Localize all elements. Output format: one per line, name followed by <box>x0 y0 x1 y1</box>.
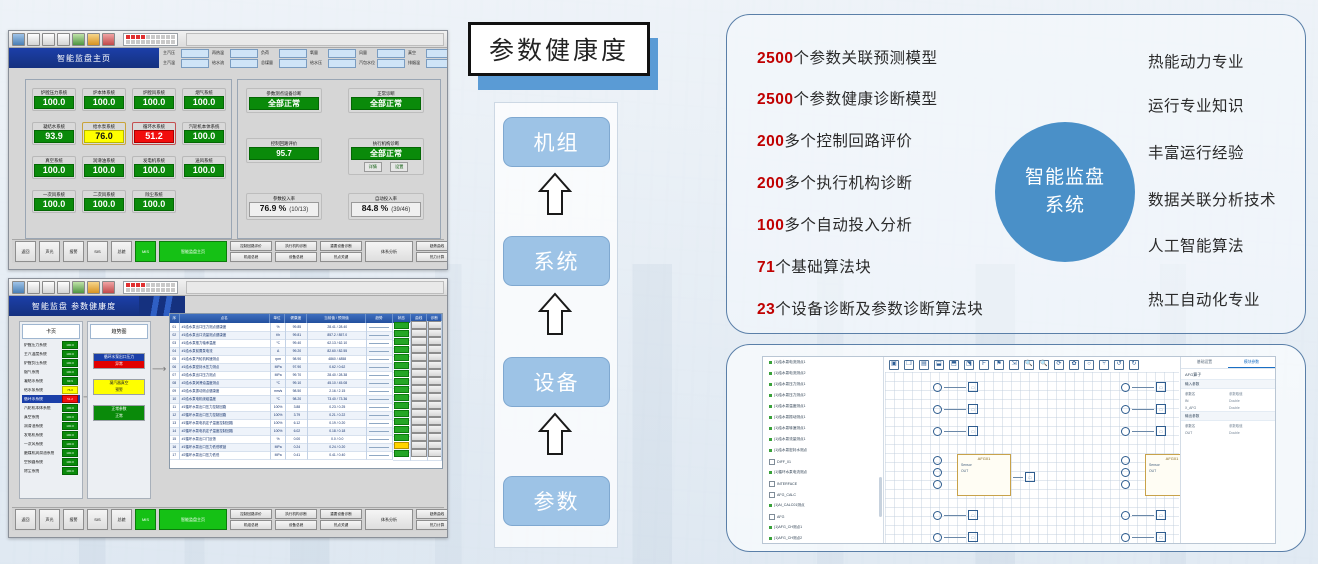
scada-home-toolbar[interactable] <box>9 31 447 48</box>
status-card[interactable]: 自动投入率 84.8 %(39/46) <box>348 193 424 220</box>
nav-button-alarm[interactable]: 报警 <box>63 241 84 262</box>
health-tile[interactable]: 炉本体系统100.0 <box>82 88 126 111</box>
nav-item[interactable]: 炉膛压力系统100.0 <box>22 341 80 349</box>
nav-item[interactable]: 润滑油系统100.0 <box>22 422 80 430</box>
nav-item[interactable]: 一次风系统100.0 <box>22 440 80 448</box>
folder-icon <box>769 459 775 465</box>
select-icon[interactable]: ▣ <box>889 360 899 370</box>
health-data-table[interactable]: 序 点名 单位 健康度 当前值 / 预测值 趋势 状态 曲线 诊断 01#1给水… <box>169 313 443 469</box>
note-icon[interactable] <box>102 33 115 46</box>
tree-node[interactable]: (1)给水泵振动测点1 <box>763 412 883 423</box>
undo-icon[interactable]: ↺ <box>1114 360 1124 370</box>
tree-node-label: (1)给水泵电流测点2 <box>774 371 806 376</box>
health-tile[interactable]: 除尘系统100.0 <box>132 190 176 213</box>
nav-button-home[interactable]: 智能监盘主页 <box>159 241 227 262</box>
page-title: 参数健康度 <box>489 31 629 67</box>
pin-row[interactable] <box>1121 468 1130 477</box>
tree-node[interactable]: (1)AI_CALC01测点 <box>763 500 883 511</box>
nav-button-sis[interactable]: SIS <box>87 509 108 530</box>
nav-button-system-analysis[interactable]: 体系分析 <box>365 509 413 530</box>
nav-button-key-device-diag[interactable]: 重要设备诊断 <box>320 241 362 251</box>
scada-health-toolbar[interactable] <box>9 279 447 296</box>
nav-item[interactable]: 凝结水系统93.9 <box>22 377 80 385</box>
pin-row[interactable] <box>933 456 942 465</box>
logic-toolbar[interactable]: ▣❐▤⬓⬒⬔F⚑⇲🔍🔍⟳✿○⑂↺↻ <box>885 357 1179 373</box>
row-trend-button[interactable] <box>411 449 427 461</box>
paste-icon[interactable]: ▤ <box>919 360 929 370</box>
trend-group-panel[interactable]: 趋势图 循环水泵出口压力 异常 凝汽器真空 预警 正常参数 正常 <box>87 321 151 499</box>
tree-node[interactable]: (1)给水泵压力测点2 <box>763 390 883 401</box>
property-group-output: 输出参数 <box>1181 411 1275 421</box>
tree-node[interactable]: (1)给水泵电流测点1 <box>763 357 883 368</box>
nav-item[interactable]: 烟气系统100.0 <box>22 368 80 376</box>
hierarchy-node-system[interactable]: 系统 <box>503 236 610 286</box>
health-tile[interactable]: 凝结水系统93.9 <box>32 122 76 145</box>
function-block[interactable]: AFG01 Sensor OUT <box>957 454 1011 496</box>
scada-home-param-strip: 主汽压主汽温 再热温给水流 负荷总煤量 氧量给水压 风量汽包水位 真空排烟温 <box>159 48 448 68</box>
up-arrow-icon <box>538 172 572 216</box>
stat-line: 2500个参数健康诊断模型 <box>757 87 938 109</box>
properties-panel[interactable]: 基础设置 模块参数 AFG算子 输入参数 参数名 参数取值 IN Double … <box>1180 357 1275 543</box>
tree-node-label: (1)AFG_CH测点2 <box>774 536 802 541</box>
nav-item[interactable]: 真空系统100.0 <box>22 413 80 421</box>
tools-icon[interactable] <box>87 281 100 294</box>
tree-node[interactable]: (1)给水泵温度测点1 <box>763 401 883 412</box>
system-circle-label: 智能监盘系统 <box>1020 164 1110 220</box>
alarm-led-panel <box>123 281 178 294</box>
zoom-out-icon[interactable]: 🔍 <box>1039 360 1049 370</box>
hierarchy-node-unit[interactable]: 机组 <box>503 117 610 167</box>
tree-node[interactable]: (1)循环水泵电流测点 <box>763 467 883 478</box>
health-tile[interactable]: 给水泵系统76.0 <box>82 122 126 145</box>
system-circle-badge: 智能监盘系统 <box>995 122 1135 262</box>
nav-button-return[interactable]: 返回 <box>15 509 36 530</box>
health-tile[interactable]: 烟气系统100.0 <box>182 88 226 111</box>
scada-health-title: 智能监盘 参数健康度 <box>9 296 139 316</box>
nav-item[interactable]: 磨煤机润滑油系统100.0 <box>22 449 80 457</box>
leaf-icon <box>769 405 772 408</box>
tree-node[interactable]: AFG_CALC <box>763 489 883 500</box>
copy-icon[interactable] <box>42 281 55 294</box>
status-card[interactable]: 控制回路评价 95.7 <box>246 138 322 163</box>
nav-button-device-overview[interactable]: 设备总貌 <box>275 252 317 262</box>
pin-row[interactable]: □ <box>933 426 978 436</box>
tree-node[interactable]: (1)给水泵密封水测点 <box>763 445 883 456</box>
nav-item[interactable]: 汽轮机本体系统100.0 <box>22 404 80 412</box>
stat-line: 200多个控制回路评价 <box>757 129 912 151</box>
save-icon[interactable] <box>12 33 25 46</box>
health-tile[interactable]: 送风系统100.0 <box>182 156 226 179</box>
stat-line: 23个设备诊断及参数诊断算法块 <box>757 297 983 319</box>
property-row[interactable]: IN Double <box>1181 397 1275 404</box>
scada-health-button-bar[interactable]: 返回 声光 报警 SIS 总貌 MIS 智能监盘主页 控制回路评价 机组总貌 执… <box>12 507 444 531</box>
up-arrow-icon <box>538 292 572 336</box>
health-tile[interactable]: 一次风系统100.0 <box>32 190 76 213</box>
property-row[interactable]: X_AFG Double <box>1181 404 1275 411</box>
scada-health-window[interactable]: 智能监盘 参数健康度 卡页 炉膛压力系统100.0 主汽温度系统100.0 炉膛… <box>8 278 448 538</box>
tree-node-label: (1)给水泵转速测点1 <box>774 426 806 431</box>
tree-node[interactable]: (1)给水泵电流测点2 <box>763 368 883 379</box>
nav-button-overview[interactable]: 总貌 <box>111 241 132 262</box>
pin-row[interactable]: □ <box>1121 382 1166 392</box>
flow-arrow-icon-2: ⟶ <box>152 365 166 375</box>
scada-home-window[interactable]: 智能监盘主页 主汽压主汽温 再热温给水流 负荷总煤量 氧量给水压 风量汽包水位 … <box>8 30 448 270</box>
toolbar-filler <box>186 33 444 46</box>
properties-title: AFG算子 <box>1181 369 1275 379</box>
profession-label: 人工智能算法 <box>1148 234 1244 256</box>
property-group-input: 输入参数 <box>1181 379 1275 389</box>
nav-button-sis[interactable]: SIS <box>87 241 108 262</box>
status-card[interactable]: 正常诊断 全部正常 <box>348 88 424 113</box>
tree-node-label: (1)给水泵流量测点1 <box>774 437 806 442</box>
nav-button-thermal-calc[interactable]: 热力计算 <box>416 252 448 262</box>
align-down-icon[interactable]: ⬒ <box>949 360 959 370</box>
health-tile[interactable]: 润滑油系统100.0 <box>82 156 126 179</box>
nav-button-hotspot[interactable]: 热点关键 <box>320 520 362 530</box>
nav-button-trend[interactable]: 趋势曲线 <box>416 241 448 251</box>
pin-row[interactable]: □ <box>933 532 978 542</box>
save-icon[interactable] <box>12 281 25 294</box>
nav-button-device-overview[interactable]: 设备总貌 <box>275 520 317 530</box>
stat-line: 2500个参数关联预测模型 <box>757 46 938 68</box>
tree-node[interactable]: (1)给水泵转速测点1 <box>763 423 883 434</box>
profession-label: 热能动力专业 <box>1148 50 1244 72</box>
profession-label: 热工自动化专业 <box>1148 288 1260 310</box>
tab-basic[interactable]: 基础设置 <box>1181 357 1228 368</box>
nav-button-mis[interactable]: MIS <box>135 241 156 262</box>
system-nav-list[interactable]: 卡页 炉膛压力系统100.0 主汽温度系统100.0 炉膛负压系统100.0 烟… <box>19 321 83 499</box>
leaf-icon <box>769 526 772 529</box>
tree-node-label: INTERFACE <box>777 482 797 486</box>
nav-button-sound[interactable]: 声光 <box>39 241 60 262</box>
profession-label: 运行专业知识 <box>1148 94 1244 116</box>
tree-node-label: (1)循环水泵电流测点 <box>774 470 807 475</box>
tree-node[interactable]: DIFF_01 <box>763 456 883 467</box>
leaf-icon <box>769 361 772 364</box>
hierarchy-node-parameter[interactable]: 参数 <box>503 476 610 526</box>
refresh-icon[interactable]: ⟳ <box>1054 360 1064 370</box>
tree-node-label: (1)给水泵压力测点1 <box>774 382 806 387</box>
scada-home-button-bar[interactable]: 返回 声光 报警 SIS 总貌 MIS 智能监盘主页 控制回路评价 机组总貌 执… <box>12 239 444 263</box>
stat-line: 100多个自动投入分析 <box>757 213 912 235</box>
chart-icon[interactable] <box>72 281 85 294</box>
tools-icon[interactable] <box>87 33 100 46</box>
leaf-icon <box>769 427 772 430</box>
tree-node-label: (1)给水泵温度测点1 <box>774 404 806 409</box>
alarm-led-panel <box>123 33 178 46</box>
property-row[interactable]: OUT Double <box>1181 429 1275 436</box>
settings-button[interactable]: 设置 <box>390 162 408 172</box>
pin-row[interactable] <box>1121 480 1130 489</box>
leaf-icon <box>769 537 772 540</box>
stat-line: 200多个执行机构诊断 <box>757 171 912 193</box>
toolbar-filler <box>186 281 444 294</box>
print-icon[interactable] <box>27 33 40 46</box>
diagnosis-summary-panel: 参数测点设备诊断 全部正常 正常诊断 全部正常 控制回路评价 95.7 执行机构… <box>237 79 441 239</box>
pin-row[interactable]: □ <box>933 510 978 520</box>
mid-header: 趋势图 <box>90 324 148 339</box>
leaf-icon <box>769 416 772 419</box>
health-tile[interactable]: 真空系统100.0 <box>32 156 76 179</box>
leaf-icon <box>769 449 772 452</box>
leaf-icon <box>769 372 772 375</box>
nav-item[interactable]: 除尘系统100.0 <box>22 467 80 475</box>
health-tile[interactable]: 炉膛压力系统100.0 <box>32 88 76 111</box>
zoom-in-icon[interactable]: 🔍 <box>1024 360 1034 370</box>
pin-row[interactable] <box>933 480 942 489</box>
property-header-row: 参数名 参数取值 <box>1181 421 1275 429</box>
canvas-scrollbar[interactable] <box>879 477 882 517</box>
pin-row[interactable] <box>933 468 942 477</box>
tree-node[interactable]: INTERFACE <box>763 478 883 489</box>
nav-button-trend[interactable]: 趋势曲线 <box>416 509 448 519</box>
pin-row[interactable]: □ <box>1121 426 1166 436</box>
leaf-icon <box>769 504 772 507</box>
nav-button-hotspot[interactable]: 热点关键 <box>320 252 362 262</box>
branch-icon[interactable]: ⑂ <box>1099 360 1109 370</box>
chart-icon[interactable] <box>72 33 85 46</box>
tree-node-label: (1)给水泵密封水测点 <box>774 448 807 453</box>
copy-icon[interactable]: ❐ <box>904 360 914 370</box>
logic-tree-panel[interactable]: (1)给水泵电流测点1(1)给水泵电流测点2(1)给水泵压力测点1(1)给水泵压… <box>763 357 884 543</box>
nav-button-home[interactable]: 智能监盘主页 <box>159 509 227 530</box>
tree-node[interactable]: (1)给水泵压力测点1 <box>763 379 883 390</box>
tree-node-label: AFG_CALC <box>777 493 796 497</box>
up-arrow-icon <box>538 412 572 456</box>
scada-home-title: 智能监盘主页 <box>9 48 159 68</box>
tree-node-label: AFG <box>777 515 784 519</box>
pin-row[interactable] <box>1121 456 1130 465</box>
detail-button[interactable]: 详情 <box>364 162 382 172</box>
health-tile[interactable]: 发电机系统100.0 <box>132 156 176 179</box>
pin-row[interactable]: □ <box>1013 472 1035 482</box>
health-tile[interactable]: 二次风系统100.0 <box>82 190 126 213</box>
leaf-icon <box>769 383 772 386</box>
tree-node[interactable]: (1)给水泵流量测点1 <box>763 434 883 445</box>
leaf-icon <box>769 438 772 441</box>
folder-icon <box>769 481 775 487</box>
pin-row[interactable]: □ <box>1121 532 1166 542</box>
group-block-abnormal[interactable]: 循环水泵出口压力 异常 <box>93 353 145 369</box>
nav-button-sound[interactable]: 声光 <box>39 509 60 530</box>
health-tile[interactable]: 汽轮机本体系统100.0 <box>182 122 226 145</box>
nav-button-system-analysis[interactable]: 体系分析 <box>365 241 413 262</box>
property-header-row: 参数名 参数取值 <box>1181 389 1275 397</box>
tree-node-label: (1)AI_CALC01测点 <box>774 503 805 508</box>
nav-item[interactable]: 给水泵系统76.0 <box>22 386 80 394</box>
health-tile[interactable]: 循环水系统51.2 <box>132 122 176 145</box>
tree-node-label: DIFF_01 <box>777 460 791 464</box>
pin-row[interactable]: □ <box>1121 510 1166 520</box>
nav-button-key-device-diag[interactable]: 重要设备诊断 <box>320 509 362 519</box>
logic-editor-window[interactable]: (1)给水泵电流测点1(1)给水泵电流测点2(1)给水泵压力测点1(1)给水泵压… <box>762 356 1276 544</box>
nav-button-actuator-diag[interactable]: 执行机构诊断 <box>275 509 317 519</box>
status-card[interactable]: 参数投入率 76.9 %(10/13) <box>246 193 322 220</box>
link-icon[interactable]: ⇲ <box>1009 360 1019 370</box>
nav-item[interactable]: 主汽温度系统100.0 <box>22 350 80 358</box>
row-diagnose-button[interactable] <box>428 449 442 461</box>
nav-header: 卡页 <box>22 324 80 339</box>
copy-icon[interactable] <box>42 33 55 46</box>
tree-node[interactable]: (1)AFG_CH测点1 <box>763 522 883 533</box>
properties-tabs[interactable]: 基础设置 模块参数 <box>1181 357 1275 369</box>
nav-button-loop-eval[interactable]: 控制回路评价 <box>230 241 272 251</box>
leaf-icon <box>769 471 772 474</box>
nav-item[interactable]: 炉膛负压系统100.0 <box>22 359 80 367</box>
paste-icon[interactable] <box>57 33 70 46</box>
nav-item[interactable]: 发电机系统100.0 <box>22 431 80 439</box>
nav-button-overview[interactable]: 总貌 <box>111 509 132 530</box>
tree-node-label: (1)给水泵电流测点1 <box>774 360 806 365</box>
table-body[interactable]: 01#1给水泵出口压力测点健康度%99.8528.41 / 28.4002#1给… <box>170 323 442 459</box>
folder-icon <box>769 514 775 520</box>
nav-button-mis[interactable]: MIS <box>135 509 156 530</box>
nav-button-return[interactable]: 返回 <box>15 241 36 262</box>
pin-row[interactable]: □ <box>933 404 978 414</box>
health-tile[interactable]: 炉膛风系统100.0 <box>132 88 176 111</box>
text-icon[interactable]: F <box>979 360 989 370</box>
stat-line: 71个基础算法块 <box>757 255 871 277</box>
hierarchy-node-equipment[interactable]: 设备 <box>503 357 610 407</box>
logic-canvas[interactable]: □ □ □ AFG01 Sensor OUT □ □ □ □ AFG02 Sen… <box>885 372 1179 543</box>
print-icon[interactable] <box>27 281 40 294</box>
tree-node-label: (1)给水泵振动测点1 <box>774 415 806 420</box>
nav-button-unit-overview[interactable]: 机组总貌 <box>230 520 272 530</box>
status-card[interactable]: 参数测点设备诊断 全部正常 <box>246 88 322 113</box>
tree-node-label: (1)AFG_CH测点1 <box>774 525 802 530</box>
profession-label: 丰富运行经验 <box>1148 141 1244 163</box>
align-right-icon[interactable]: ⬔ <box>964 360 974 370</box>
pin-row[interactable]: □ <box>933 382 978 392</box>
tab-module-params[interactable]: 模块参数 <box>1228 357 1275 368</box>
nav-button-actuator-diag[interactable]: 执行机构诊断 <box>275 241 317 251</box>
system-health-panel: 炉膛压力系统100.0 炉本体系统100.0 炉膛风系统100.0 烟气系统10… <box>25 79 232 239</box>
page-title-box: 参数健康度 <box>468 22 650 76</box>
redo-icon[interactable]: ↻ <box>1129 360 1139 370</box>
nav-button-thermal-calc[interactable]: 热力计算 <box>416 520 448 530</box>
nav-button-loop-eval[interactable]: 控制回路评价 <box>230 509 272 519</box>
pin-row[interactable]: □ <box>1121 404 1166 414</box>
scada-home-titlebar: 智能监盘主页 主汽压主汽温 再热温给水流 负荷总煤量 氧量给水压 风量汽包水位 … <box>9 48 447 68</box>
circle-icon[interactable]: ○ <box>1084 360 1094 370</box>
leaf-icon <box>769 394 772 397</box>
nav-item[interactable]: 空预器系统100.0 <box>22 458 80 466</box>
profession-label: 数据关联分析技术 <box>1148 188 1276 210</box>
table-row[interactable]: 17#2循环水泵出口压力低低MPa0.410.41 / 0.40 <box>170 451 442 459</box>
tree-node-label: (1)给水泵压力测点2 <box>774 393 806 398</box>
nav-item-selected[interactable]: 循环水系统51.2 <box>22 395 80 403</box>
status-card[interactable]: 执行机构诊断 全部正常 详情 设置 <box>348 138 424 175</box>
settings-icon[interactable]: ✿ <box>1069 360 1079 370</box>
align-left-icon[interactable]: ⬓ <box>934 360 944 370</box>
nav-button-alarm[interactable]: 报警 <box>63 509 84 530</box>
folder-icon <box>769 492 775 498</box>
note-icon[interactable] <box>102 281 115 294</box>
tree-node[interactable]: (1)AFG_CH测点2 <box>763 533 883 544</box>
group-block-normal[interactable]: 正常参数 正常 <box>93 405 145 421</box>
nav-button-unit-overview[interactable]: 机组总貌 <box>230 252 272 262</box>
pin-icon[interactable]: ⚑ <box>994 360 1004 370</box>
tree-node[interactable]: AFG <box>763 511 883 522</box>
paste-icon[interactable] <box>57 281 70 294</box>
group-block-warning[interactable]: 凝汽器真空 预警 <box>93 379 145 395</box>
